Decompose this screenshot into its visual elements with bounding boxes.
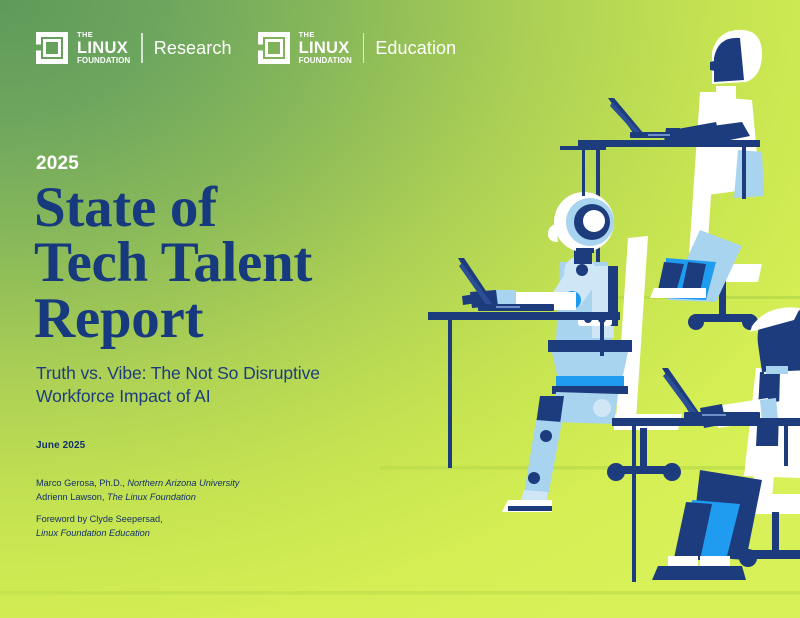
linux-foundation-mark-icon: [258, 32, 290, 64]
page-title: State of Tech Talent Report: [34, 180, 454, 346]
logo-linux: LINUX: [77, 40, 130, 57]
logo-label-research: Research: [154, 38, 232, 59]
author-credits: Marco Gerosa, Ph.D., Northern Arizona Un…: [36, 477, 239, 505]
foreword-credit: Foreword by Clyde Seepersad, Linux Found…: [36, 513, 163, 541]
title-line-3: Report: [34, 291, 454, 346]
logo-the: THE: [77, 31, 130, 39]
figure-person-bottom-right: [612, 307, 800, 582]
author-name: Marco Gerosa, Ph.D.,: [36, 478, 127, 488]
linux-foundation-education-logo: THE LINUX FOUNDATION Education: [258, 31, 457, 65]
logo-the: THE: [299, 31, 352, 39]
foreword-line-1: Foreword by Clyde Seepersad,: [36, 513, 163, 527]
title-line-1: State of: [34, 180, 454, 235]
linux-foundation-wordmark: THE LINUX FOUNDATION: [77, 31, 130, 65]
logo-linux: LINUX: [299, 40, 352, 57]
linux-foundation-wordmark: THE LINUX FOUNDATION: [299, 31, 352, 65]
author-row: Adrienn Lawson, The Linux Foundation: [36, 491, 239, 505]
foreword-line-2: Linux Foundation Education: [36, 528, 150, 538]
linux-foundation-mark-icon: [36, 32, 68, 64]
logo-bar: THE LINUX FOUNDATION Research THE LINUX …: [36, 31, 456, 65]
logo-divider: [141, 33, 143, 63]
logo-label-education: Education: [375, 38, 456, 59]
publication-date: June 2025: [36, 440, 85, 451]
cover-year: 2025: [36, 153, 79, 175]
author-row: Marco Gerosa, Ph.D., Northern Arizona Un…: [36, 477, 239, 491]
cover-subtitle: Truth vs. Vibe: The Not So Disruptive Wo…: [36, 362, 396, 408]
logo-foundation: FOUNDATION: [77, 57, 130, 65]
logo-divider: [363, 33, 365, 63]
title-line-2: Tech Talent: [34, 235, 454, 290]
author-affiliation: Northern Arizona University: [127, 478, 239, 488]
figure-person-top-right: [578, 30, 764, 330]
linux-foundation-research-logo: THE LINUX FOUNDATION Research: [36, 31, 232, 65]
figure-robot: [428, 146, 682, 512]
author-affiliation: The Linux Foundation: [107, 492, 196, 502]
logo-foundation: FOUNDATION: [299, 57, 352, 65]
report-cover: THE LINUX FOUNDATION Research THE LINUX …: [0, 0, 800, 618]
author-name: Adrienn Lawson,: [36, 492, 107, 502]
